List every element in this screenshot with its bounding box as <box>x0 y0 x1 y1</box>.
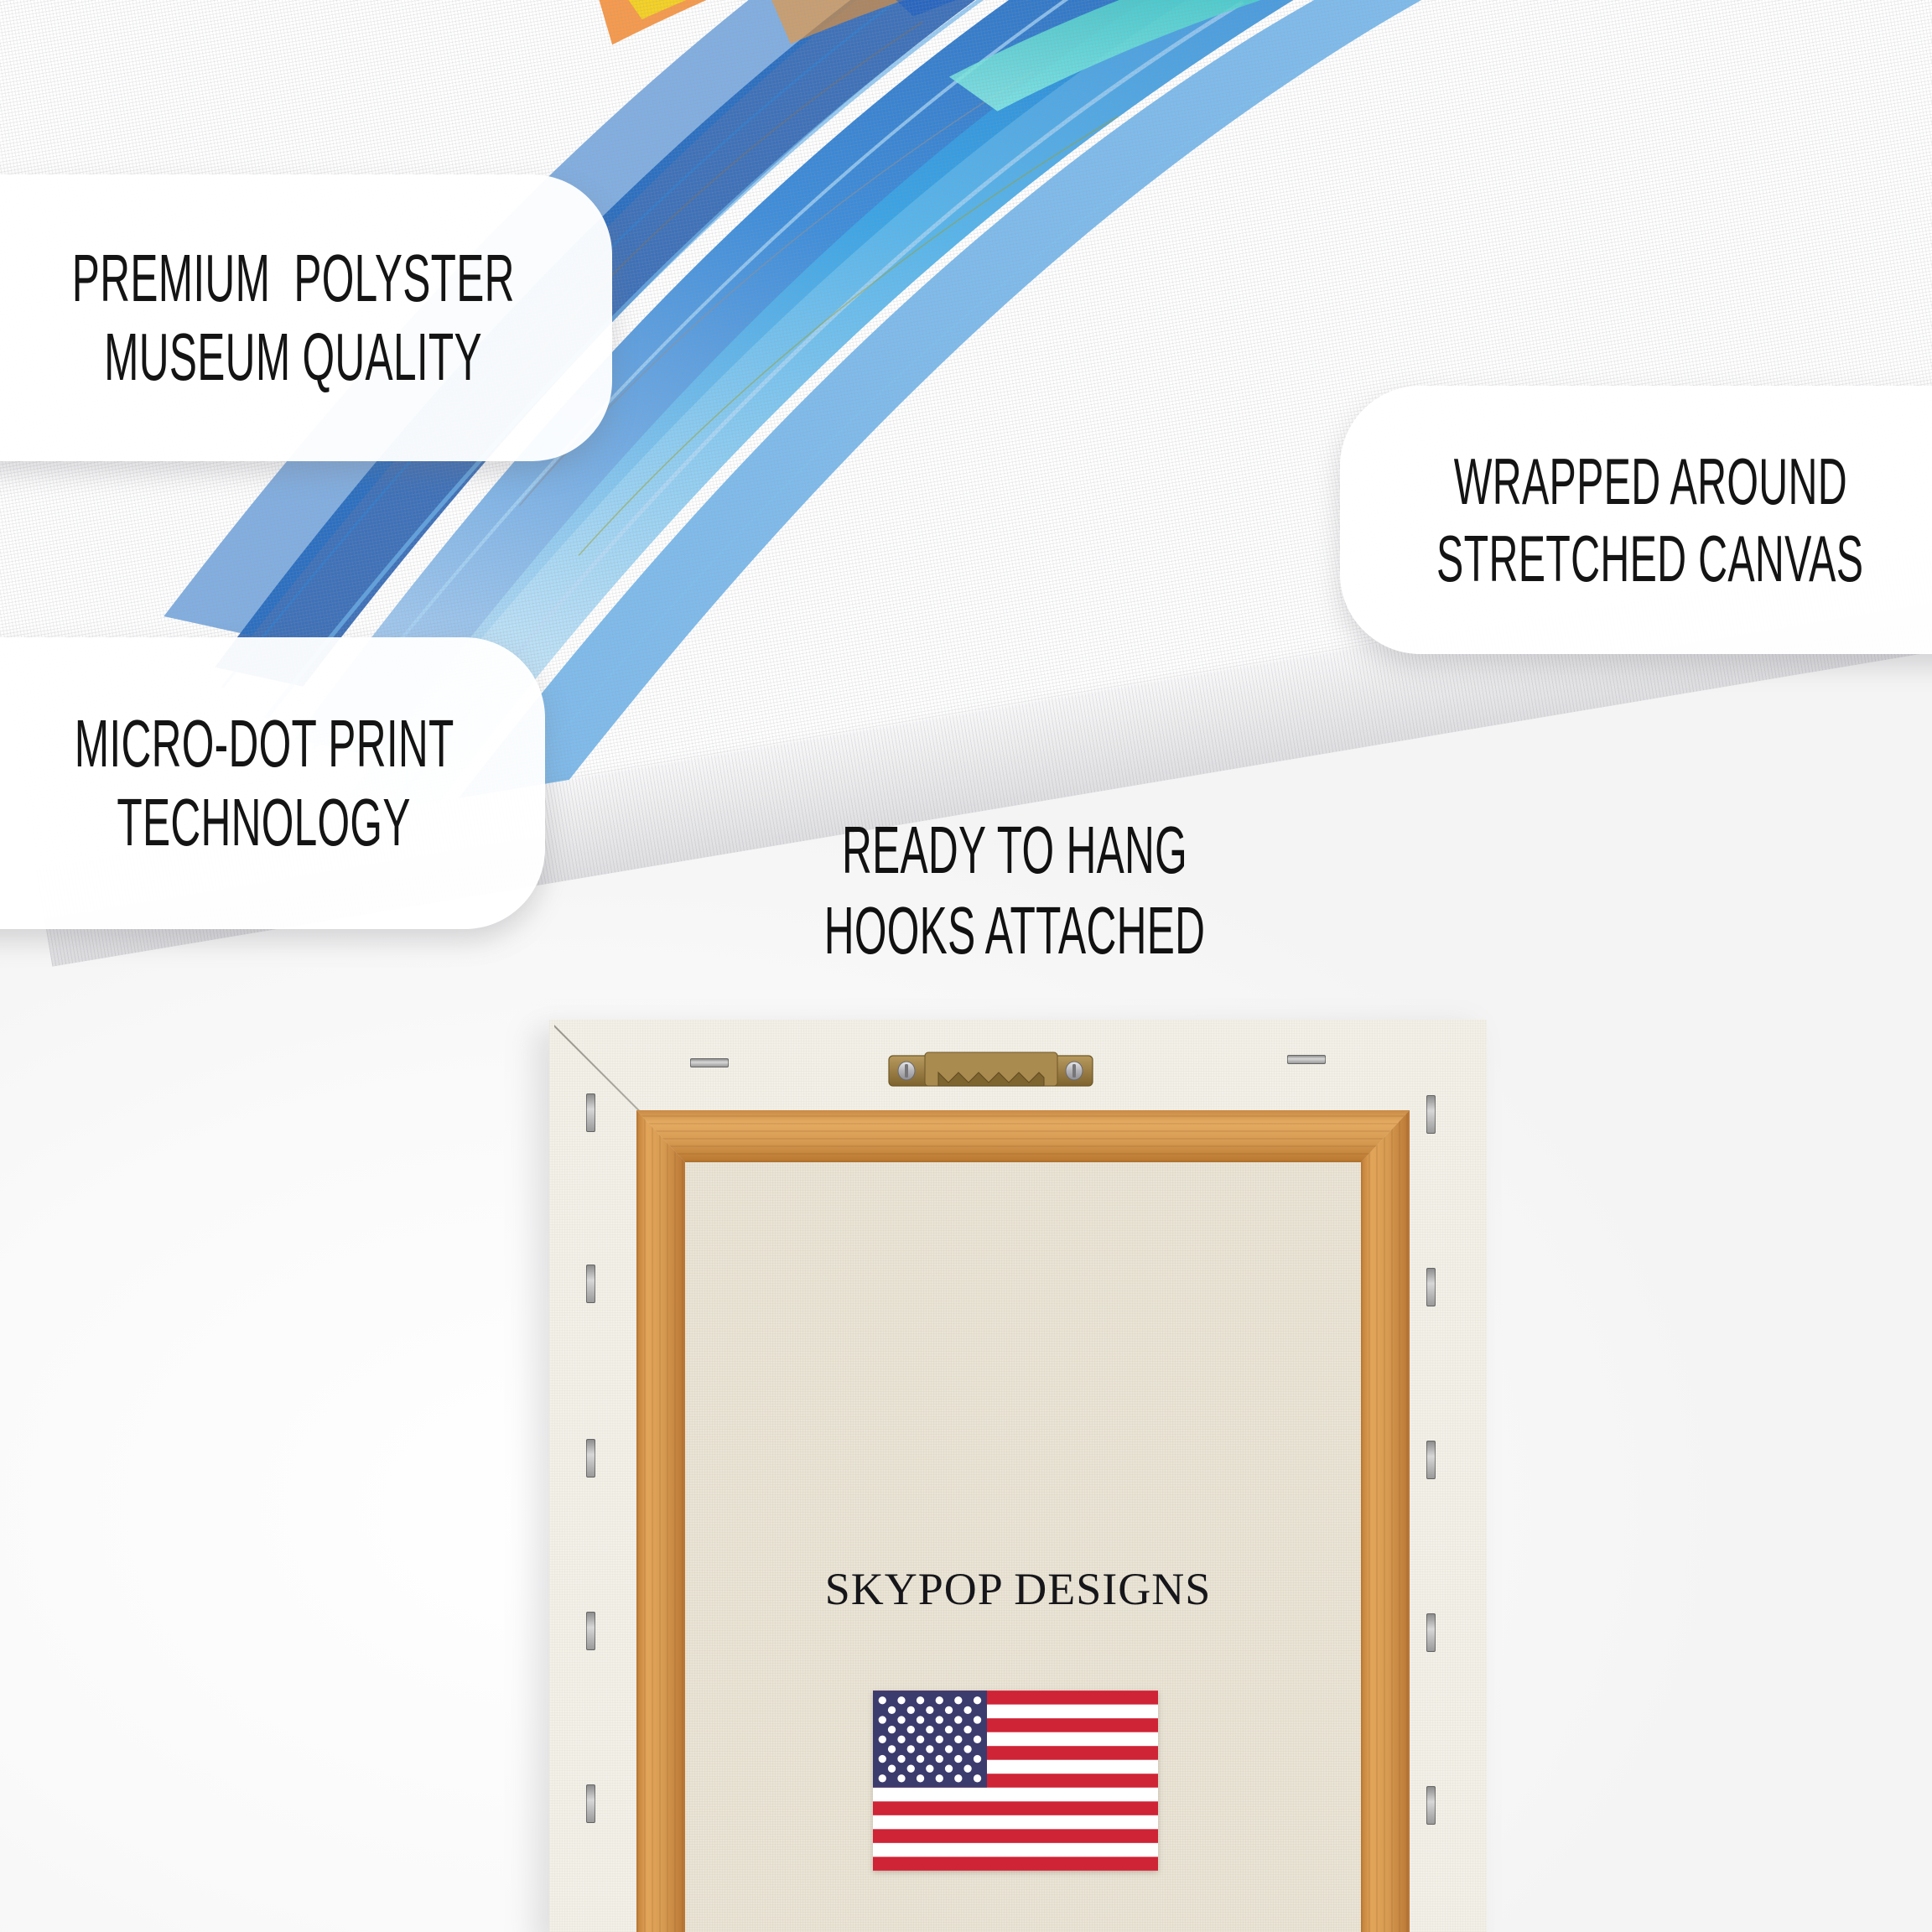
staple <box>586 1784 595 1823</box>
badge-line-1: MICRO-DOT PRINT <box>75 704 454 783</box>
staple <box>1426 1441 1436 1479</box>
canvas-back-product: SKYPOP DESIGNS <box>549 1020 1487 1932</box>
feature-badge-wrapped-around: WRAPPED AROUND STRETCHED CANVAS <box>1340 386 1932 654</box>
staple <box>1426 1613 1436 1652</box>
united-states-flag-icon <box>873 1690 1158 1871</box>
badge-line-2: STRETCHED CANVAS <box>1436 520 1863 597</box>
badge-line-2: MUSEUM QUALITY <box>105 318 483 397</box>
staple <box>690 1058 729 1067</box>
stretcher-bar-top <box>636 1110 1410 1162</box>
staple <box>1287 1055 1326 1064</box>
feature-badge-micro-dot-print: MICRO-DOT PRINT TECHNOLOGY <box>0 637 545 929</box>
brand-name: SKYPOP DESIGNS <box>549 1563 1487 1615</box>
staple <box>586 1612 595 1650</box>
callout-line-2: HOOKS ATTACHED <box>817 891 1212 971</box>
staple <box>586 1093 595 1132</box>
stretcher-bar-left <box>636 1110 685 1932</box>
staple <box>1426 1268 1436 1306</box>
staple <box>586 1439 595 1478</box>
feature-badge-premium-polyster: PREMIUM POLYSTER MUSEUM QUALITY <box>0 174 612 461</box>
badge-line-1: WRAPPED AROUND <box>1453 443 1846 520</box>
infographic-canvas: PREMIUM POLYSTER MUSEUM QUALITY WRAPPED … <box>0 0 1932 1932</box>
staple <box>1426 1095 1436 1134</box>
staple <box>1426 1786 1436 1825</box>
sawtooth-hanger-icon <box>888 1051 1093 1097</box>
badge-line-2: TECHNOLOGY <box>117 783 411 862</box>
staple <box>586 1265 595 1303</box>
callout-line-1: READY TO HANG <box>817 810 1212 891</box>
stretcher-bar-right <box>1361 1110 1410 1932</box>
badge-line-1: PREMIUM POLYSTER <box>72 239 515 318</box>
feature-callout-ready-to-hang: READY TO HANG HOOKS ATTACHED <box>696 810 1333 971</box>
